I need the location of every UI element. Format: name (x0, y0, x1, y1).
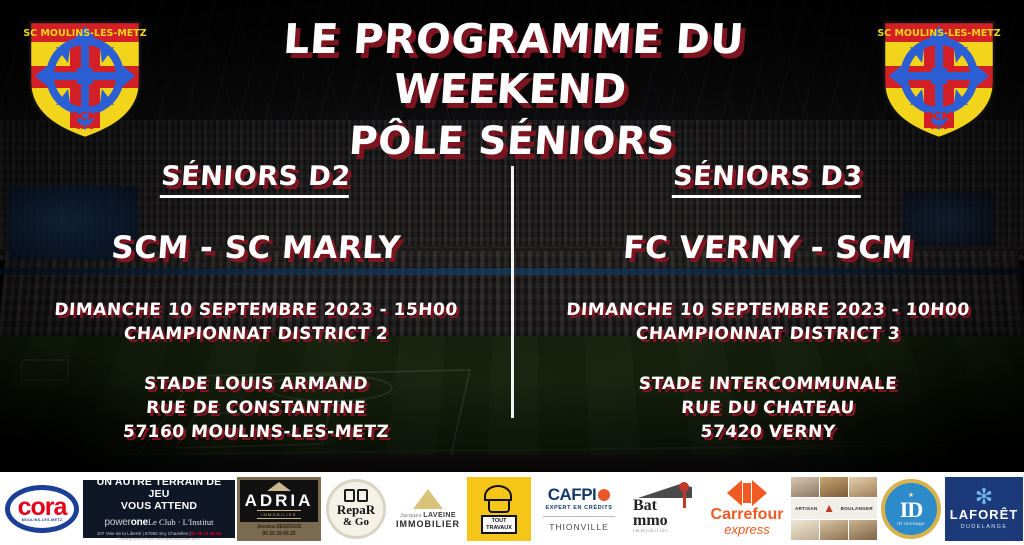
powerone-club: Le Club · L'Institut (148, 517, 214, 527)
cora-subtext: MOULINS-LES-METZ (22, 518, 63, 522)
id-montage-subtext: ID montage (897, 521, 925, 526)
sponsor-logo-powerone[interactable]: UN AUTRE TERRAIN DE JEU VOUS ATTEND powe… (83, 480, 235, 538)
match-announcement-poster: SC MOULINS-LES-METZ SCM 1942 (0, 0, 1024, 545)
powerone-brand-light: power (105, 517, 131, 528)
boulanger-photo-bread (849, 477, 877, 498)
repar-wordmark-line1: RepaR (337, 503, 375, 516)
page-title-line2: PÔLE SÉNIORS (168, 118, 855, 166)
match-date-d2: DIMANCHE 10 SEPTEMBRE 2023 - 15H00 (27, 298, 485, 322)
crest-year: 1942 (76, 123, 94, 131)
cafpi-wordmark: CAFPI (548, 485, 597, 505)
club-crest-right: SC MOULINS-LES-METZ SCM 1942 (872, 8, 1006, 147)
boulanger-photo-baker (791, 477, 819, 498)
category-title-d3: SÉNIORS D3 (672, 160, 864, 198)
laforet-tree-icon: ✻ (975, 487, 993, 507)
venue-block-d2: STADE LOUIS ARMAND RUE DE CONSTANTINE 57… (28, 372, 484, 444)
boulanger-photo-flour (791, 520, 819, 541)
laforet-wordmark: LAFORÊT (950, 507, 1018, 522)
match-competition-d3: CHAMPIONNAT DISTRICT 3 (539, 322, 997, 346)
repar-wordmark-line2: & Go (343, 516, 369, 528)
powerone-address: 107 Voie de la Liberté | 57050 Scy Chaze… (97, 531, 191, 536)
adria-roof-icon (267, 482, 291, 491)
boulanger-label-left: ARTISAN (795, 506, 818, 511)
venue-name-d3: STADE INTERCOMMUNALE (539, 372, 997, 396)
venue-block-d3: STADE INTERCOMMUNALE RUE DU CHATEAU 5742… (540, 372, 996, 444)
boulanger-label-band: ARTISAN BOULANGER (791, 498, 877, 519)
poster-header: SC MOULINS-LES-METZ SCM 1942 (0, 0, 1024, 146)
category-title-d2: SÉNIORS D2 (160, 160, 352, 198)
laforet-city: DUDELANGE (961, 524, 1008, 530)
match-columns: SÉNIORS D2 SCM - SC MARLY DIMANCHE 10 SE… (0, 160, 1024, 460)
powerone-headline-1: UN AUTRE TERRAIN DE JEU (89, 476, 229, 500)
sponsor-logo-cafpi[interactable]: CAFPI EXPERT EN CRÉDITS THIONVILLE (533, 476, 625, 542)
powerone-headline-2: VOUS ATTEND (121, 500, 197, 512)
powerone-tagline: Coaching sportif et soins esthétiques (118, 537, 173, 541)
match-fixture-d3: FC VERNY - SCM (539, 228, 998, 268)
sponsor-logo-cora[interactable]: cora MOULINS-LES-METZ (3, 476, 81, 542)
laveine-lastname: LAVEINE (423, 512, 456, 519)
adria-contact: Jessica DESOGUS (257, 524, 301, 531)
boulanger-triangle-icon (826, 505, 833, 512)
carrefour-chevron-icon (727, 480, 767, 506)
match-column-d2: SÉNIORS D2 SCM - SC MARLY DIMANCHE 10 SE… (0, 160, 512, 460)
laveine-triangle-icon (413, 489, 443, 509)
batimmo-line3: immobilier (627, 528, 670, 533)
sponsor-bar: cora MOULINS-LES-METZ UN AUTRE TERRAIN D… (0, 472, 1024, 545)
title-block: LE PROGRAMME DU WEEKEND PÔLE SÉNIORS (170, 14, 854, 166)
sponsor-logo-adria[interactable]: ADRIA IMMOBILIER Jessica DESOGUS 06 25 1… (237, 477, 321, 541)
adria-wordmark: ADRIA (245, 491, 314, 510)
venue-street-d2: RUE DE CONSTANTINE (27, 396, 485, 420)
sponsor-logo-id-montage[interactable]: ★ ID ID montage (879, 476, 943, 542)
club-crest-left: SC MOULINS-LES-METZ SCM 1942 (18, 8, 152, 147)
boulanger-photo-dough (820, 520, 848, 541)
powerone-phone: 06 78 13 38 52 (191, 531, 222, 536)
repar-window-icon (344, 489, 368, 502)
boulanger-photo-baguettes (820, 477, 848, 498)
cafpi-divider (543, 516, 615, 517)
match-info-d3: DIMANCHE 10 SEPTEMBRE 2023 - 10H00 CHAMP… (540, 298, 996, 346)
crest-initials: SCM (926, 110, 953, 123)
carrefour-wordmark: Carrefour (711, 506, 784, 523)
powerone-website: www.power-one.fr (173, 537, 200, 541)
match-column-d3: SÉNIORS D3 FC VERNY - SCM DIMANCHE 10 SE… (512, 160, 1024, 460)
match-date-d3: DIMANCHE 10 SEPTEMBRE 2023 - 10H00 (539, 298, 997, 322)
id-montage-initials: ID (900, 499, 922, 521)
match-competition-d2: CHAMPIONNAT DISTRICT 2 (27, 322, 485, 346)
powerone-brand-bold: one (131, 517, 148, 528)
cora-wordmark: cora (18, 496, 67, 518)
sponsor-logo-laforet[interactable]: ✻ LAFORÊT DUDELANGE (945, 477, 1023, 541)
match-fixture-d2: SCM - SC MARLY (27, 228, 486, 268)
tout-travaux-worker-icon (482, 483, 516, 513)
sponsor-logo-tout-travaux[interactable]: TOUT TRAVAUX (467, 477, 531, 541)
cafpi-dot-icon (598, 489, 610, 501)
batimmo-pin-icon (679, 482, 689, 508)
batimmo-line2: mmo (627, 513, 668, 528)
venue-city-d3: 57420 VERNY (539, 420, 997, 444)
crest-top-text: SC MOULINS-LES-METZ (877, 28, 1000, 39)
crest-initials: SCM (72, 110, 99, 123)
crest-top-text: SC MOULINS-LES-METZ (23, 28, 146, 39)
batimmo-line1: Bat (627, 498, 657, 513)
match-info-d2: DIMANCHE 10 SEPTEMBRE 2023 - 15H00 CHAMP… (28, 298, 484, 346)
sponsor-logo-batimmo[interactable]: Bat mmo immobilier (627, 476, 703, 542)
laveine-activity: IMMOBILIER (396, 519, 460, 529)
boulanger-photo-loaf (849, 520, 877, 541)
tout-travaux-line2: TRAVAUX (486, 525, 512, 532)
sponsor-logo-artisan-boulanger[interactable]: ARTISAN BOULANGER (791, 476, 877, 542)
adria-phone: 06 25 18 66 25 (257, 531, 301, 538)
cafpi-subtitle: EXPERT EN CRÉDITS (545, 505, 612, 511)
sponsor-logo-repar-and-go[interactable]: RepaR & Go (323, 476, 389, 542)
crest-year: 1942 (930, 123, 948, 131)
venue-street-d3: RUE DU CHATEAU (539, 396, 997, 420)
cafpi-city: THIONVILLE (549, 522, 609, 532)
venue-name-d2: STADE LOUIS ARMAND (27, 372, 485, 396)
sponsor-logo-laveine-immobilier[interactable]: Jacques LAVEINE IMMOBILIER (391, 476, 465, 542)
boulanger-label-right: BOULANGER (841, 506, 873, 511)
carrefour-format: express (724, 523, 770, 537)
page-title-line1: LE PROGRAMME DU WEEKEND (167, 14, 858, 114)
adria-tagline: IMMOBILIER (257, 510, 301, 519)
venue-city-d2: 57160 MOULINS-LES-METZ (27, 420, 485, 444)
sponsor-logo-carrefour-express[interactable]: Carrefour express (705, 476, 789, 542)
